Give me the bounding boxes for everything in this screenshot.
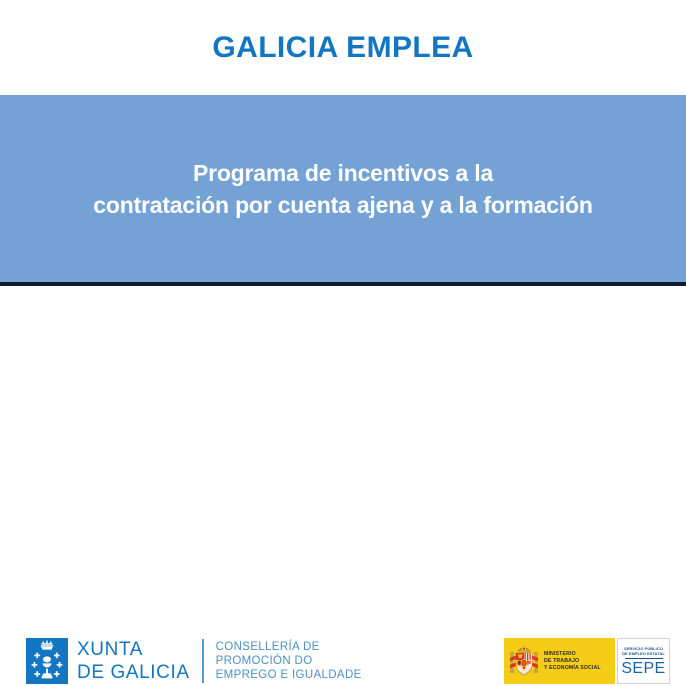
government-logos: MINISTERIO DE TRABAJO Y ECONOMÍA SOCIAL … [504,638,670,684]
conselleria-line-3: EMPREGO E IGUALDADE [216,668,362,682]
banner-line-1: Programa de incentivos a la [193,157,493,189]
xunta-de-galicia-logo: XUNTA DE GALICIA CONSELLERÍA DE PROMOCIÓ… [26,636,362,686]
conselleria-line-1: CONSELLERÍA DE [216,640,362,654]
banner-line-2: contratación por cuenta ajena y a la for… [93,189,593,221]
program-banner: Programa de incentivos a la contratación… [0,95,686,282]
logo-divider [202,639,204,683]
sepe-subtitle-line-2: DE EMPLEO ESTATAL [622,651,665,656]
xunta-wordmark-line-1: XUNTA [77,640,190,659]
page-header: GALICIA EMPLEA [0,0,686,95]
spain-coat-of-arms-icon [509,643,539,679]
sepe-logo: SERVICIO PÚBLICO DE EMPLEO ESTATAL SEPE [617,638,670,684]
conselleria-block: CONSELLERÍA DE PROMOCIÓN DO EMPREGO E IG… [216,640,362,682]
ministerio-line-2: DE TRABAJO [544,658,601,665]
xunta-wordmark: XUNTA DE GALICIA [77,640,190,682]
conselleria-line-2: PROMOCIÓN DO [216,654,362,668]
sepe-acronym: SEPE [621,660,665,677]
xunta-emblem-icon [26,638,68,684]
ministerio-line-3: Y ECONOMÍA SOCIAL [544,665,601,672]
footer: XUNTA DE GALICIA CONSELLERÍA DE PROMOCIÓ… [0,286,686,410]
sepe-divider [625,658,663,659]
page-title: GALICIA EMPLEA [212,31,473,65]
ministerio-de-trabajo-logo: MINISTERIO DE TRABAJO Y ECONOMÍA SOCIAL [504,638,615,684]
xunta-wordmark-line-2: DE GALICIA [77,663,190,682]
ministerio-text: MINISTERIO DE TRABAJO Y ECONOMÍA SOCIAL [544,651,601,672]
ministerio-line-1: MINISTERIO [544,651,601,658]
